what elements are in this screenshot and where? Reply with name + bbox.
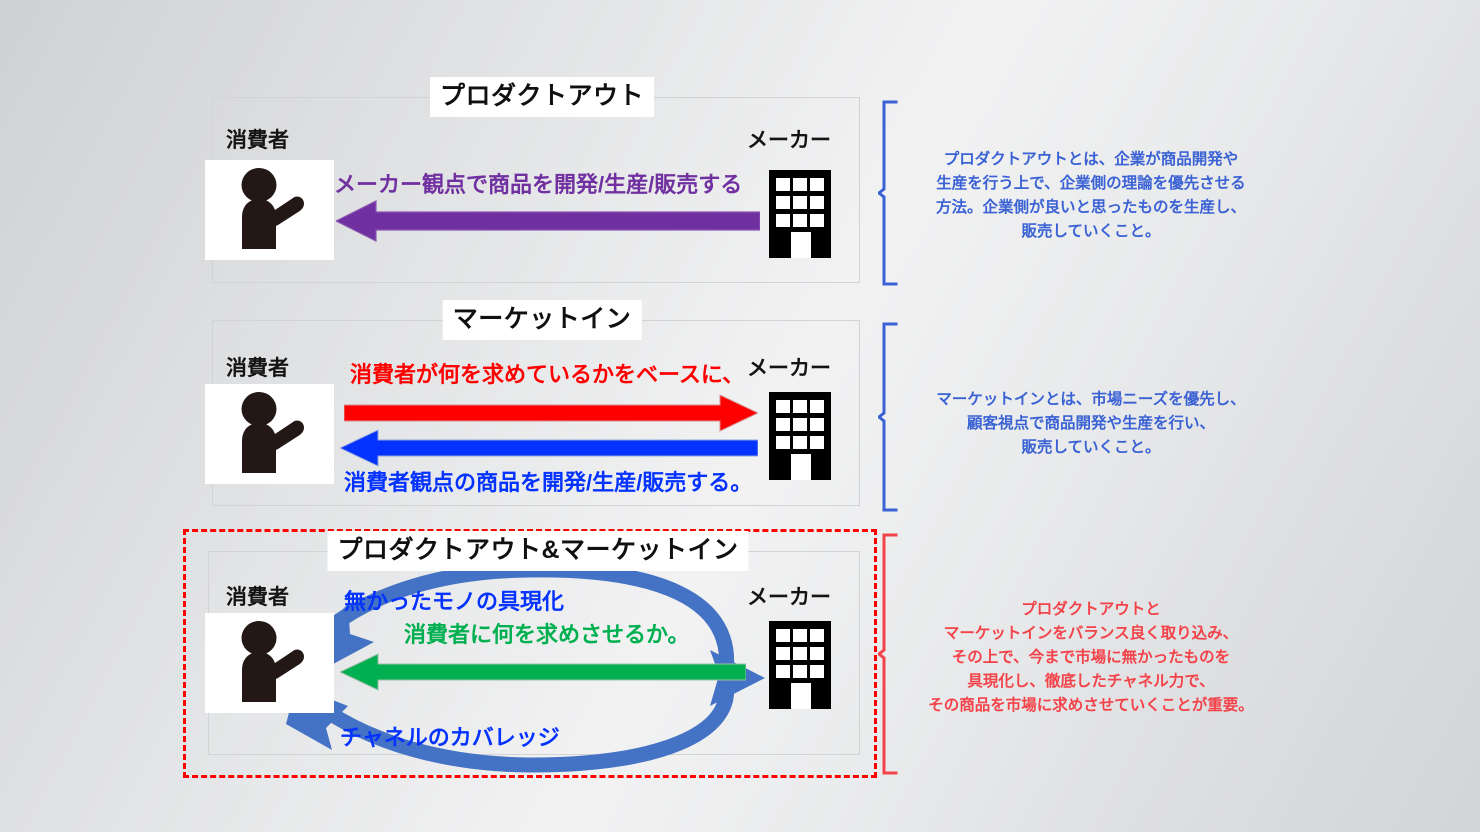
office-building-icon <box>767 168 833 260</box>
consumer-icon-tile-combined <box>205 613 334 713</box>
consumer-label-product-out: 消費者 <box>226 124 289 154</box>
consumer-icon-tile-product-out <box>205 160 334 260</box>
section-title-product-out: プロダクトアウト <box>430 77 654 117</box>
consumer-icon-tile-market-in <box>205 384 334 484</box>
maker-icon-tile-market-in <box>762 388 838 484</box>
maker-icon-tile-product-out <box>762 166 838 262</box>
person-pointing-icon <box>230 167 310 253</box>
caption-maker-to-consumer-market-in: 消費者観点の商品を開発/生産/販売する。 <box>344 472 752 494</box>
description-combined: プロダクトアウトと マーケットインをバランス良く取り込み、 その上で、今まで市場… <box>896 598 1286 718</box>
caption-top-curve-combined: 無かったモノの具現化 <box>344 591 564 613</box>
maker-label-market-in: メーカー <box>747 352 831 382</box>
person-pointing-icon <box>230 391 310 477</box>
slide-canvas: プロダクトアウト 消費者 メーカー メーカー観点で商 <box>0 0 1480 832</box>
maker-icon-tile-combined <box>762 617 838 713</box>
caption-bottom-curve-combined: チャネルのカバレッジ <box>340 727 560 749</box>
consumer-label-market-in: 消費者 <box>226 352 289 382</box>
maker-label-product-out: メーカー <box>747 124 831 154</box>
description-market-in: マーケットインとは、市場ニーズを優先し、 顧客視点で商品開発や生産を行い、 販売… <box>898 388 1284 460</box>
office-building-icon <box>767 390 833 482</box>
section-title-combined: プロダクトアウト&マーケットイン <box>327 531 748 571</box>
caption-consumer-to-maker-market-in: 消費者が何を求めているかをベースに、 <box>350 364 744 386</box>
caption-green-arrow-combined: 消費者に何を求めさせるか。 <box>404 624 690 646</box>
maker-to-consumer-arrow-combined <box>340 651 746 693</box>
caption-maker-to-consumer-product-out: メーカー観点で商品を開発/生産/販売する <box>334 174 742 196</box>
section-title-market-in: マーケットイン <box>443 300 642 340</box>
bracket-product-out <box>878 100 902 286</box>
office-building-icon <box>767 619 833 711</box>
maker-to-consumer-arrow-market-in <box>340 428 758 468</box>
consumer-to-maker-arrow-market-in <box>344 393 758 433</box>
maker-to-consumer-arrow-product-out <box>336 199 760 243</box>
description-product-out: プロダクトアウトとは、企業が商品開発や 生産を行う上で、企業側の理論を優先させる… <box>900 148 1282 244</box>
maker-label-combined: メーカー <box>747 581 831 611</box>
person-pointing-icon <box>230 620 310 706</box>
consumer-label-combined: 消費者 <box>226 581 289 611</box>
